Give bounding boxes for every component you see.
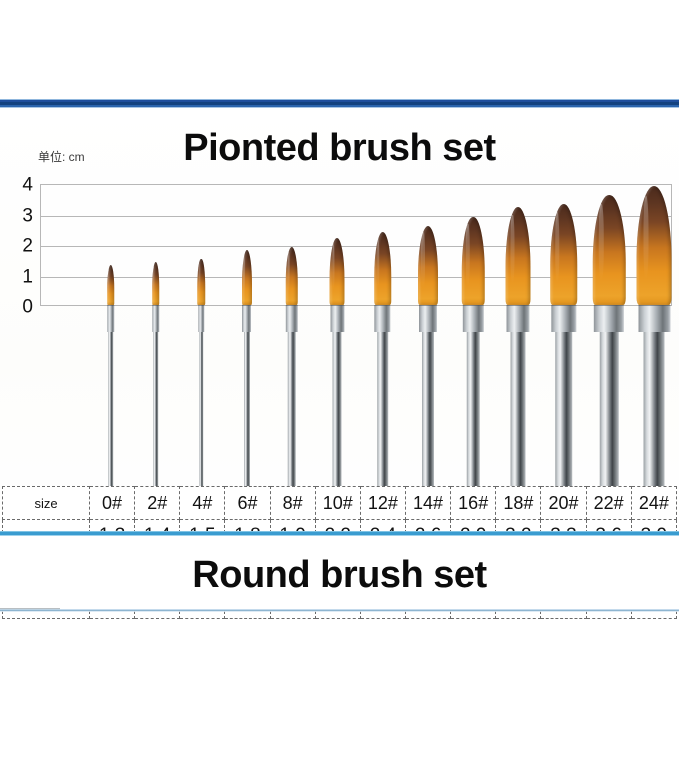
brush-ferrule (594, 305, 624, 332)
row-label-size: size (3, 487, 90, 520)
size-cell-8: 8# (270, 487, 315, 520)
brush-handle (422, 332, 434, 486)
brush-ferrule (638, 305, 670, 332)
brush-handle (333, 332, 342, 486)
brush-ferrule (374, 305, 390, 332)
brush-ferrule (551, 305, 576, 332)
brush-size-chart: 01234 (40, 184, 672, 306)
brush-ferrule (107, 305, 114, 332)
brush-handle (466, 332, 480, 486)
brush-ferrule (198, 305, 205, 332)
size-cell-4: 4# (180, 487, 225, 520)
size-cell-2: 2# (135, 487, 180, 520)
brush-handle (377, 332, 388, 486)
table-row-size: size 0#2#4#6#8#10#12#14#16#18#20#22#24# (3, 487, 677, 520)
brush-handle (199, 332, 204, 486)
brush-ferrule (507, 305, 530, 332)
brush-handle (511, 332, 526, 486)
brush-ferrule (286, 305, 298, 332)
brush-handle (154, 332, 159, 486)
size-cell-0: 0# (90, 487, 135, 520)
bottom-hairline (0, 609, 679, 612)
brush-ferrule (419, 305, 437, 332)
chart-gridline (41, 216, 671, 217)
brush-ferrule (242, 305, 251, 332)
chart-gridline (41, 277, 671, 278)
pointed-section-title: Pionted brush set (0, 127, 679, 170)
brush-handle (288, 332, 296, 486)
brush-handle (108, 332, 113, 486)
y-axis-tick-0: 0 (22, 298, 33, 317)
brush-handle (644, 332, 665, 486)
unit-label: 单位: cm (38, 148, 85, 165)
brush-ferrule (330, 305, 344, 332)
size-cell-6: 6# (225, 487, 270, 520)
size-cell-24: 24# (631, 487, 676, 520)
brush-handle (555, 332, 572, 486)
size-cell-18: 18# (496, 487, 541, 520)
brush-handle (244, 332, 250, 486)
y-axis-tick-3: 3 (22, 206, 33, 225)
y-axis-tick-4: 4 (22, 176, 33, 195)
brush-ferrule (463, 305, 484, 332)
size-cell-10: 10# (315, 487, 360, 520)
round-section-title: Round brush set (0, 554, 679, 597)
round-brush-section: Round brush set (0, 536, 679, 611)
brush-handle (599, 332, 619, 486)
size-cell-12: 12# (360, 487, 405, 520)
size-cell-16: 16# (451, 487, 496, 520)
brush-illustration-group (0, 108, 679, 531)
y-axis-tick-2: 2 (22, 237, 33, 256)
pointed-brush-section: Pionted brush set 单位: cm 01234 size 0#2#… (0, 108, 679, 531)
brush-ferrule (153, 305, 160, 332)
top-divider (0, 99, 679, 108)
y-axis-tick-1: 1 (22, 267, 33, 286)
size-cell-20: 20# (541, 487, 586, 520)
size-cell-14: 14# (405, 487, 450, 520)
size-cell-22: 22# (586, 487, 631, 520)
chart-gridline (41, 246, 671, 247)
